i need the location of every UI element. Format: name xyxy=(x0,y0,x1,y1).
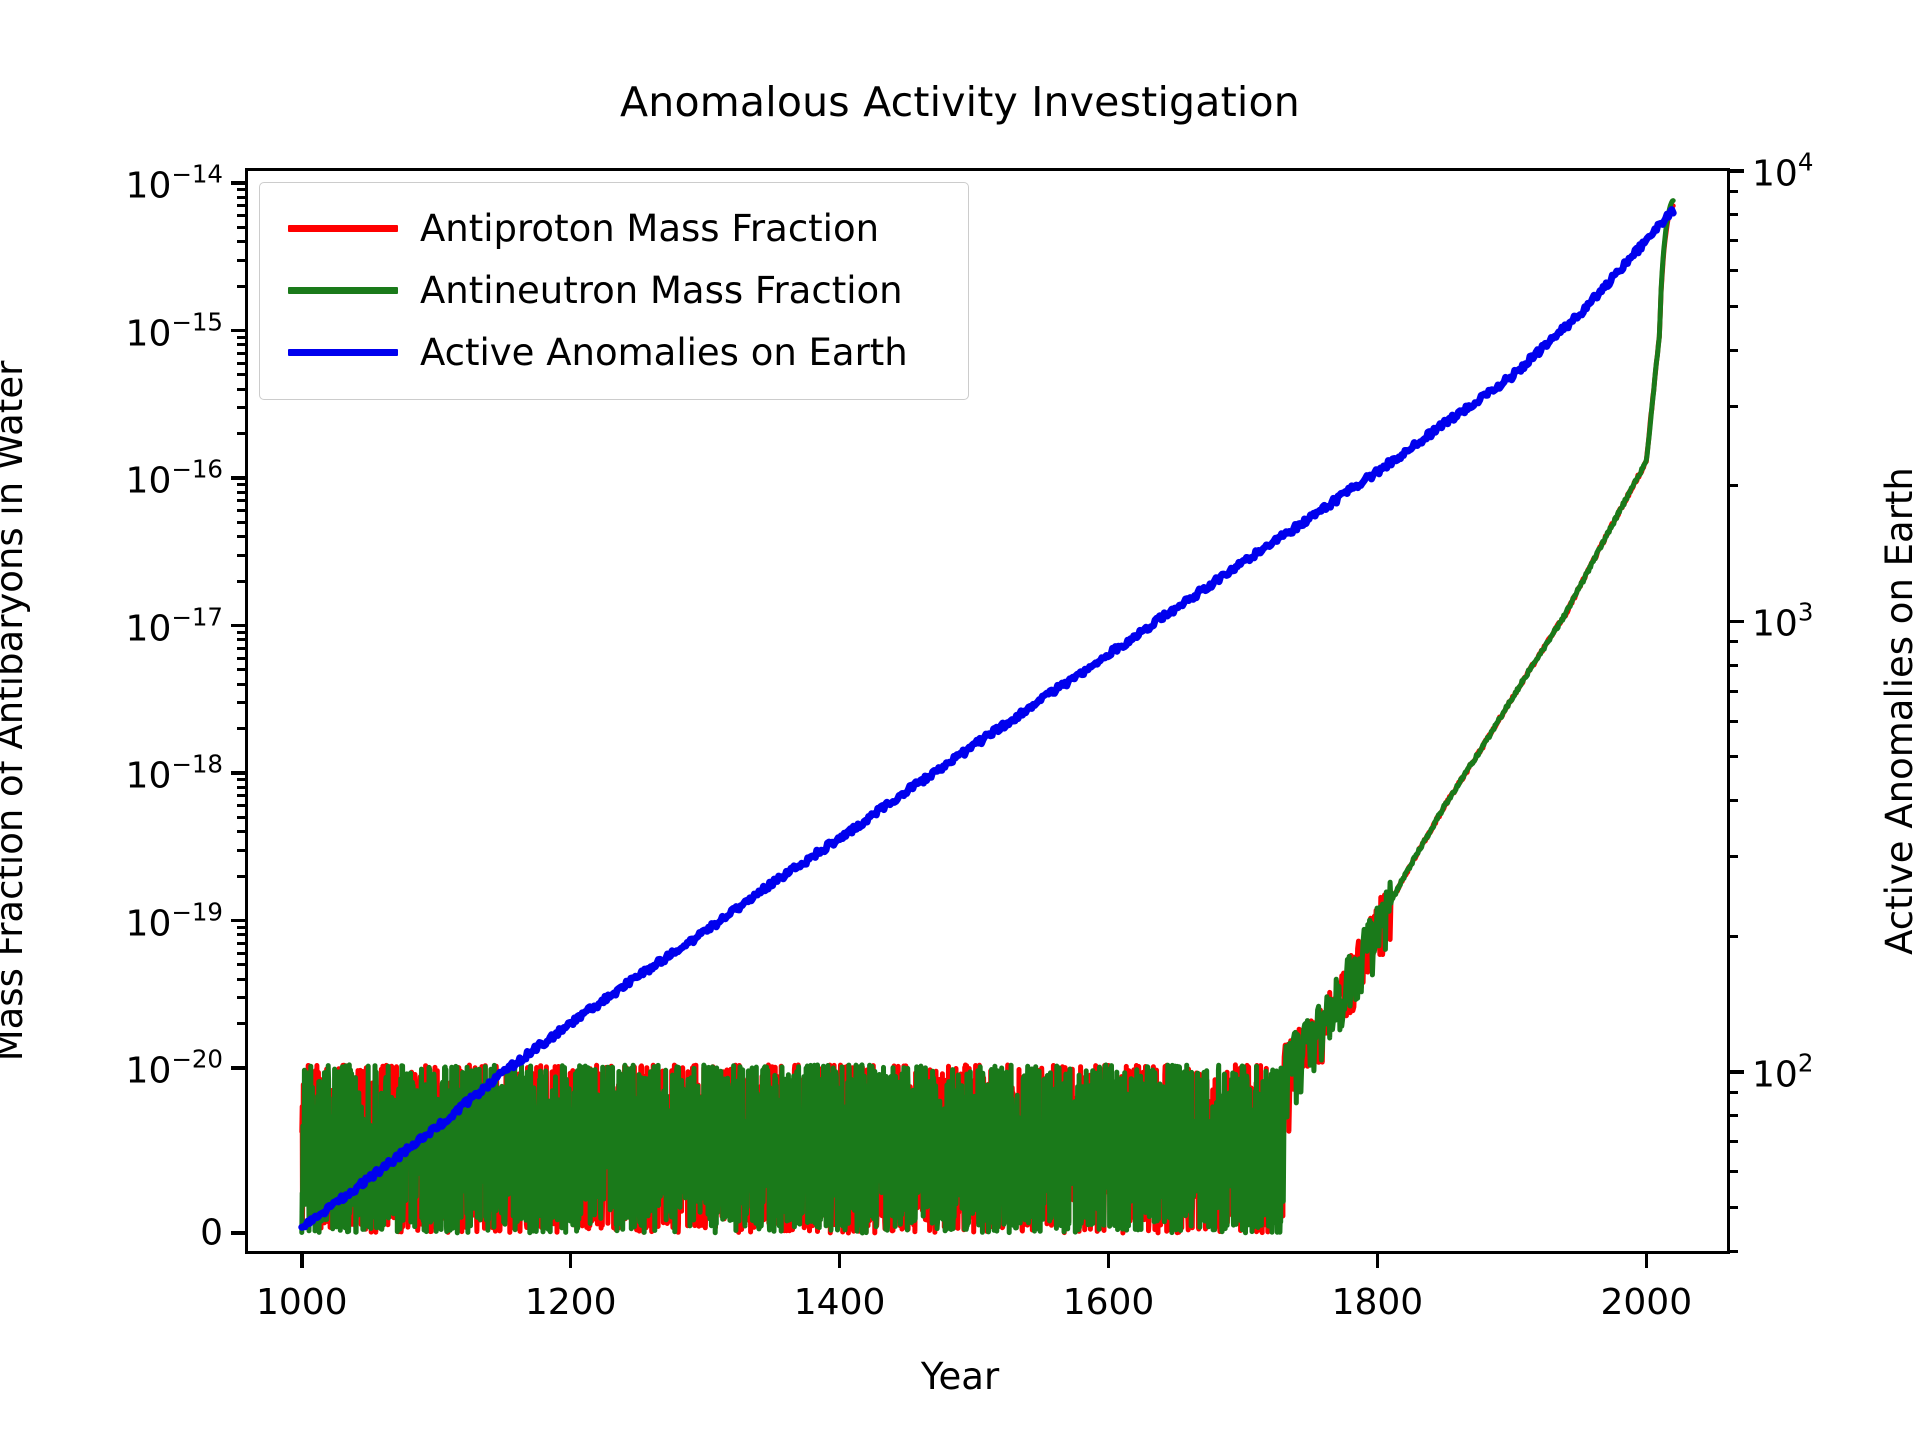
chart-title: Anomalous Activity Investigation xyxy=(0,78,1920,126)
legend-item[interactable]: Antineutron Mass Fraction xyxy=(278,259,950,321)
y-right-minor-tickmark xyxy=(1730,1170,1738,1173)
x-tickmark xyxy=(1645,1254,1649,1268)
x-tick-label: 1200 xyxy=(525,1282,617,1323)
x-axis-label: Year xyxy=(0,1355,1920,1398)
y-right-minor-tickmark xyxy=(1730,213,1738,216)
y-left-tick-label: 10−19 xyxy=(126,897,223,944)
y-right-minor-tickmark xyxy=(1730,664,1738,667)
y-right-minor-tickmark xyxy=(1730,305,1738,308)
y-right-tick-label: 104 xyxy=(1752,147,1813,194)
y-left-minor-tickmark xyxy=(237,204,245,207)
y-left-minor-tickmark xyxy=(237,727,245,730)
x-tick-label: 1000 xyxy=(256,1282,348,1323)
y-left-minor-tickmark xyxy=(237,580,245,583)
y-right-minor-tickmark xyxy=(1730,269,1738,272)
chart-legend[interactable]: Antiproton Mass FractionAntineutron Mass… xyxy=(259,182,969,400)
x-tickmark xyxy=(300,1254,304,1268)
y-left-minor-tickmark xyxy=(237,778,245,781)
legend-color-swatch xyxy=(288,349,398,356)
y-left-minor-tickmark xyxy=(237,631,245,634)
x-tickmark xyxy=(1107,1254,1111,1268)
y-left-minor-tickmark xyxy=(237,875,245,878)
y-left-tickmark xyxy=(231,181,245,185)
y-left-tickmark xyxy=(231,1231,245,1235)
legend-item[interactable]: Antiproton Mass Fraction xyxy=(278,197,950,259)
x-tickmark xyxy=(1376,1254,1380,1268)
y-left-minor-tickmark xyxy=(237,491,245,494)
y-left-minor-tickmark xyxy=(237,794,245,797)
y-left-minor-tickmark xyxy=(237,554,245,557)
y-left-tick-label: 0 xyxy=(200,1213,223,1254)
y-left-minor-tickmark xyxy=(237,259,245,262)
x-tick-label: 1400 xyxy=(794,1282,886,1323)
x-tickmark xyxy=(569,1254,573,1268)
y-left-minor-tickmark xyxy=(237,352,245,355)
y-right-minor-tickmark xyxy=(1730,484,1738,487)
y-left-minor-tickmark xyxy=(237,647,245,650)
y-right-minor-tickmark xyxy=(1730,1140,1738,1143)
legend-label: Antineutron Mass Fraction xyxy=(420,269,903,312)
y-left-minor-tickmark xyxy=(237,952,245,955)
figure-canvas: Anomalous Activity Investigation Mass Fr… xyxy=(0,0,1920,1440)
y-left-minor-tickmark xyxy=(237,499,245,502)
y-left-tick-label: 10−14 xyxy=(126,159,223,206)
y-left-minor-tickmark xyxy=(237,343,245,346)
y-left-tick-label: 10−18 xyxy=(126,749,223,796)
y-right-minor-tickmark xyxy=(1730,190,1738,193)
y-left-minor-tickmark xyxy=(237,388,245,391)
y-left-minor-tickmark xyxy=(237,188,245,191)
y-left-tick-label: 10−16 xyxy=(126,454,223,501)
y-left-minor-tickmark xyxy=(237,226,245,229)
y-left-minor-tickmark xyxy=(237,978,245,981)
y-left-minor-tickmark xyxy=(237,816,245,819)
y-left-minor-tickmark xyxy=(237,362,245,365)
y-right-tickmark xyxy=(1730,169,1744,173)
y-axis-right-label-text: Active Anomalies on Earth xyxy=(1878,467,1920,955)
y-right-minor-tickmark xyxy=(1730,239,1738,242)
legend-color-swatch xyxy=(288,225,398,232)
y-left-tickmark xyxy=(231,1066,245,1070)
y-left-minor-tickmark xyxy=(237,830,245,833)
y-left-minor-tickmark xyxy=(237,240,245,243)
y-left-minor-tickmark xyxy=(237,996,245,999)
y-left-minor-tickmark xyxy=(237,406,245,409)
y-right-minor-tickmark xyxy=(1730,935,1738,938)
y-right-tickmark xyxy=(1730,1070,1744,1074)
x-tickmark xyxy=(838,1254,842,1268)
y-right-tick-label: 103 xyxy=(1752,598,1813,645)
y-left-tickmark xyxy=(231,771,245,775)
legend-item[interactable]: Active Anomalies on Earth xyxy=(278,321,950,383)
y-left-tickmark xyxy=(231,624,245,628)
y-left-minor-tickmark xyxy=(237,804,245,807)
x-tick-label: 1600 xyxy=(1063,1282,1155,1323)
y-left-minor-tickmark xyxy=(237,668,245,671)
y-left-minor-tickmark xyxy=(237,483,245,486)
y-left-minor-tickmark xyxy=(237,926,245,929)
y-left-minor-tickmark xyxy=(237,196,245,199)
y-left-minor-tickmark xyxy=(237,373,245,376)
y-left-minor-tickmark xyxy=(237,1022,245,1025)
y-left-tick-label: 10−17 xyxy=(126,602,223,649)
y-right-minor-tickmark xyxy=(1730,855,1738,858)
legend-color-swatch xyxy=(288,287,398,294)
y-right-minor-tickmark xyxy=(1730,755,1738,758)
y-left-minor-tickmark xyxy=(237,933,245,936)
legend-label: Antiproton Mass Fraction xyxy=(420,207,879,250)
y-left-minor-tickmark xyxy=(237,214,245,217)
y-left-minor-tickmark xyxy=(237,701,245,704)
y-left-minor-tickmark xyxy=(237,285,245,288)
y-left-minor-tickmark xyxy=(237,432,245,435)
y-left-minor-tickmark xyxy=(237,521,245,524)
x-tick-label: 2000 xyxy=(1601,1282,1693,1323)
y-left-tick-label: 10−15 xyxy=(126,307,223,354)
y-left-minor-tickmark xyxy=(237,942,245,945)
y-left-tickmark xyxy=(231,329,245,333)
y-right-minor-tickmark xyxy=(1730,1114,1738,1117)
y-axis-left-label: Mass Fraction of Antibaryons in Water xyxy=(0,361,31,1062)
y-right-tickmark xyxy=(1730,620,1744,624)
y-right-minor-tickmark xyxy=(1730,405,1738,408)
y-right-minor-tickmark xyxy=(1730,640,1738,643)
y-axis-right-label: Active Anomalies on Earth xyxy=(1878,467,1920,955)
y-axis-left-label-text: Mass Fraction of Antibaryons in Water xyxy=(0,361,31,1062)
y-left-minor-tickmark xyxy=(237,683,245,686)
y-left-minor-tickmark xyxy=(237,849,245,852)
y-left-minor-tickmark xyxy=(237,336,245,339)
y-right-minor-tickmark xyxy=(1730,720,1738,723)
y-right-minor-tickmark xyxy=(1730,690,1738,693)
y-right-minor-tickmark xyxy=(1730,349,1738,352)
y-left-minor-tickmark xyxy=(237,657,245,660)
y-right-minor-tickmark xyxy=(1730,799,1738,802)
y-left-tickmark xyxy=(231,476,245,480)
y-left-minor-tickmark xyxy=(237,535,245,538)
legend-label: Active Anomalies on Earth xyxy=(420,331,908,374)
y-left-tickmark xyxy=(231,919,245,923)
y-right-tick-label: 102 xyxy=(1752,1048,1813,1095)
y-left-minor-tickmark xyxy=(237,638,245,641)
y-right-minor-tickmark xyxy=(1730,1206,1738,1209)
y-right-minor-tickmark xyxy=(1730,1091,1738,1094)
y-left-minor-tickmark xyxy=(237,509,245,512)
y-left-tick-label: 10−20 xyxy=(126,1044,223,1091)
y-right-minor-tickmark xyxy=(1730,1250,1738,1253)
x-tick-label: 1800 xyxy=(1332,1282,1424,1323)
y-left-minor-tickmark xyxy=(237,963,245,966)
y-left-minor-tickmark xyxy=(237,786,245,789)
